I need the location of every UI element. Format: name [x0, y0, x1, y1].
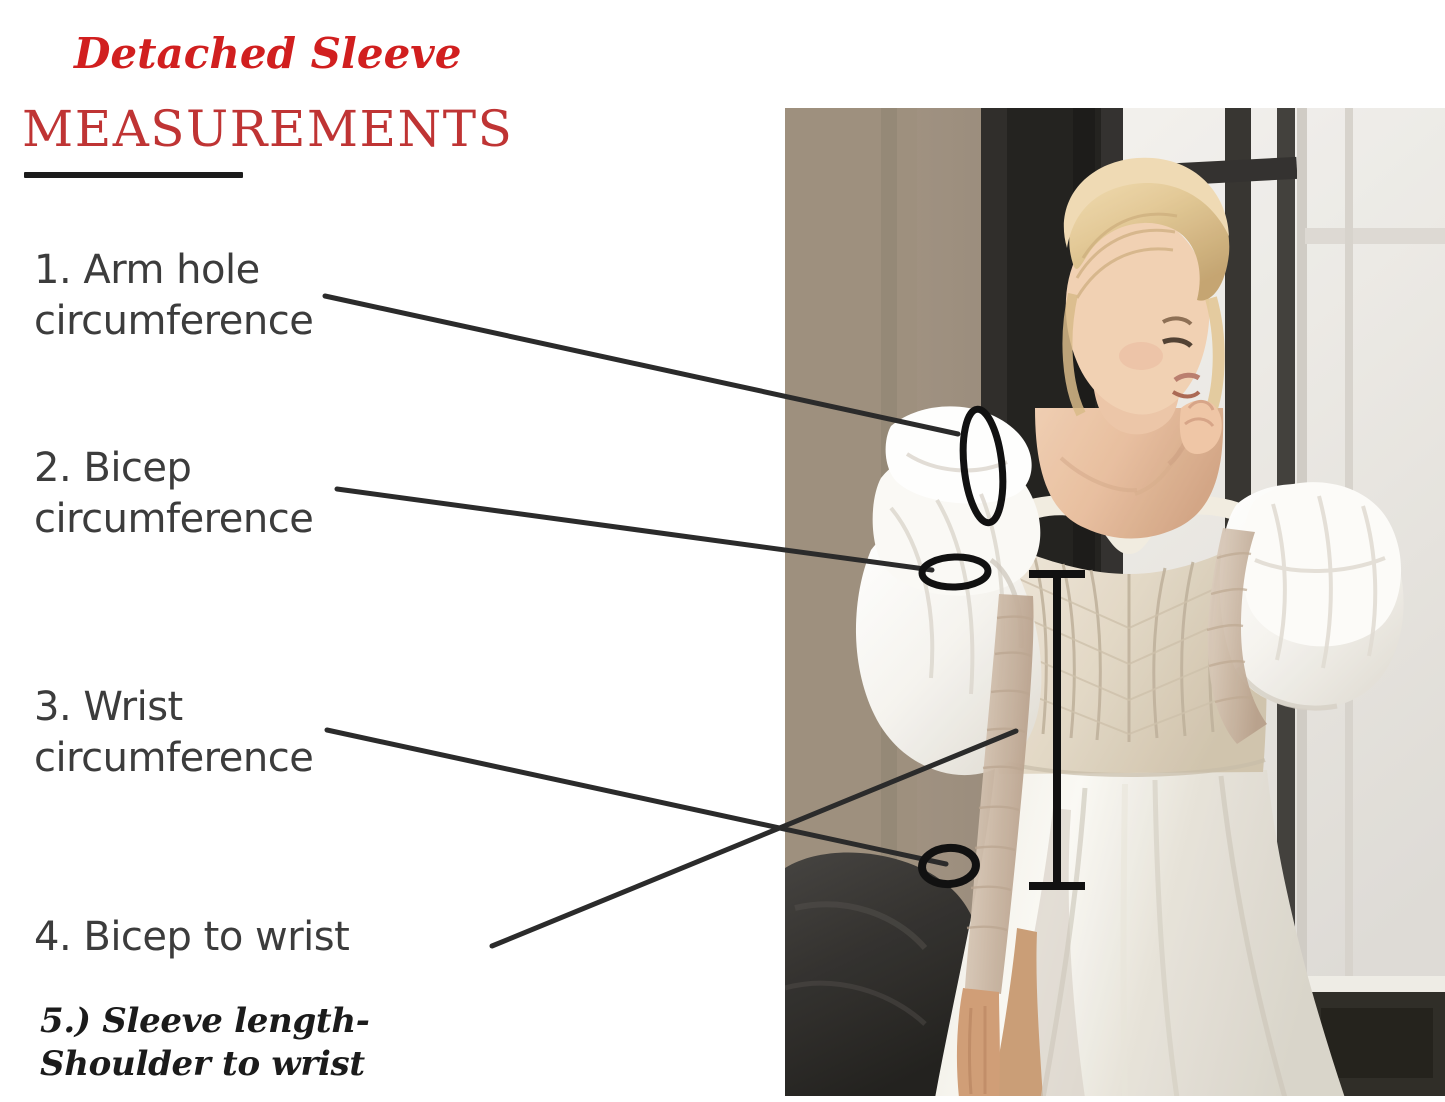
infographic-page: Detached Sleeve MEASUREMENTS 1. Arm hole… [0, 0, 1445, 1102]
list-item-bicep: 2. Bicep circumference [34, 443, 313, 545]
bride-photo [785, 108, 1445, 1098]
list-item-bicep-to-wrist: 4. Bicep to wrist [34, 912, 349, 963]
list-item-armhole: 1. Arm hole circumference [34, 245, 313, 347]
measurements-list: 1. Arm hole circumference 2. Bicep circu… [0, 0, 760, 1102]
bottom-white-strip [0, 1096, 1445, 1102]
list-item-sleeve-length: 5.) Sleeve length- Shoulder to wrist [40, 1000, 370, 1085]
list-item-wrist: 3. Wrist circumference [34, 682, 313, 784]
photo-illustration [785, 108, 1445, 1098]
